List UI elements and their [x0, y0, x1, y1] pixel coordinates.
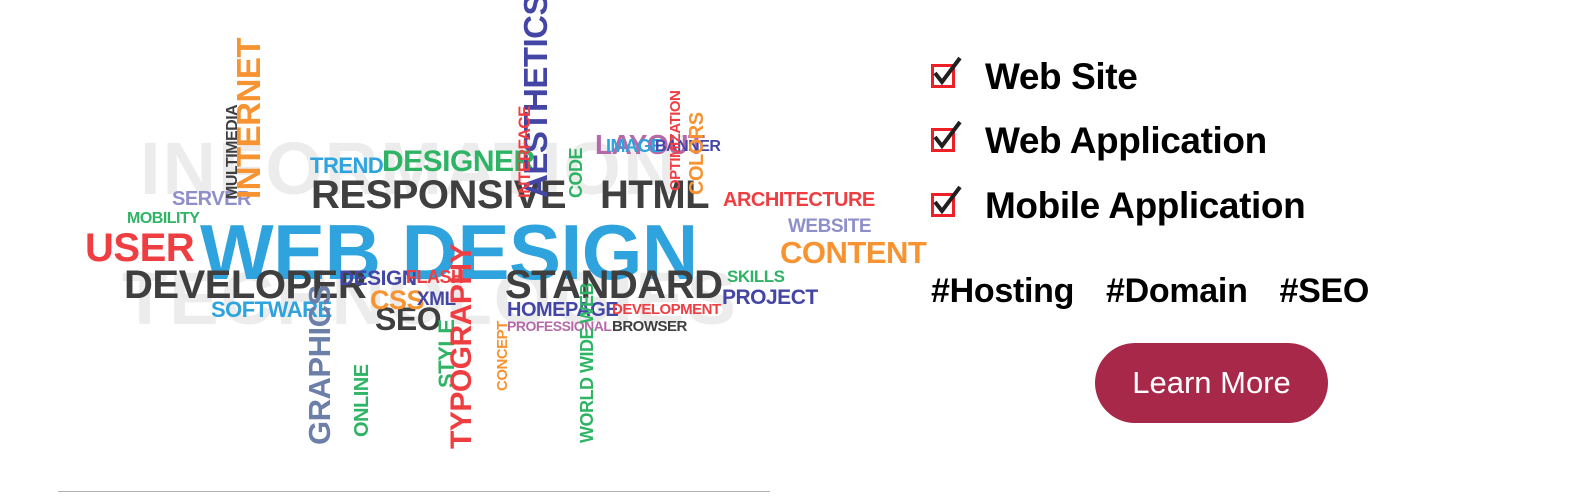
- checkbox-checked-icon[interactable]: [931, 191, 961, 221]
- checkbox-checked-icon[interactable]: [931, 126, 961, 156]
- word-cloud-word: SKILLS: [727, 268, 784, 285]
- checklist-item-label: Mobile Application: [985, 185, 1305, 227]
- word-cloud-word: WEBSITE: [788, 217, 871, 236]
- word-cloud-word: HOMEPAGE: [507, 300, 618, 320]
- hashtag-list: #Hosting #Domain #SEO: [931, 272, 1369, 311]
- word-cloud-word: CODE: [567, 148, 585, 198]
- learn-more-button[interactable]: Learn More: [1095, 343, 1328, 423]
- word-cloud-word: MOBILITY: [127, 211, 199, 227]
- word-cloud-word: CSS: [370, 287, 424, 314]
- promo-banner: INFORMATION TECHNOLOGIES WEB DESIGNRESPO…: [0, 0, 1583, 500]
- word-cloud-word: INTERFACE: [516, 106, 533, 198]
- word-cloud-word: MULTIMEDIA: [225, 105, 241, 199]
- word-cloud-image: INFORMATION TECHNOLOGIES WEB DESIGNRESPO…: [0, 0, 915, 470]
- word-cloud-word: DESIGNER: [382, 147, 535, 177]
- word-cloud-word: CONTENT: [780, 237, 926, 268]
- word-cloud-word: USER: [85, 228, 194, 268]
- word-cloud-word: DEVELOPMENT: [612, 302, 721, 317]
- word-cloud-word: CONCEPT: [495, 321, 510, 391]
- hashtag-hosting[interactable]: #Hosting: [931, 272, 1074, 311]
- offerings-panel: Web Site Web Application Mobile Applicat…: [915, 0, 1583, 500]
- checklist-item-mobile-application[interactable]: Mobile Application: [931, 185, 1305, 227]
- word-cloud-word: WORLD WIDE WEB: [578, 283, 596, 443]
- checklist-item-web-site[interactable]: Web Site: [931, 56, 1137, 98]
- word-cloud-word: TREND: [310, 155, 383, 177]
- word-cloud-word: BROWSER: [612, 319, 687, 334]
- word-cloud-word: GRAPHICS: [304, 285, 335, 445]
- word-cloud-word: TYPOGRAPHY: [447, 244, 477, 449]
- checkbox-checked-icon[interactable]: [931, 62, 961, 92]
- hashtag-domain[interactable]: #Domain: [1106, 272, 1248, 311]
- word-cloud-word: ONLINE: [352, 364, 372, 437]
- word-cloud-word: PROJECT: [722, 287, 818, 308]
- checklist-item-web-application[interactable]: Web Application: [931, 120, 1267, 162]
- bottom-divider: [58, 491, 770, 492]
- checklist-item-label: Web Application: [985, 120, 1267, 162]
- word-cloud-word: OPTIMIZATION: [668, 91, 683, 191]
- checklist-item-label: Web Site: [985, 56, 1137, 98]
- word-cloud-word: ARCHITECTURE: [723, 190, 875, 210]
- hashtag-seo[interactable]: #SEO: [1280, 272, 1370, 311]
- word-cloud-word: COLORS: [687, 112, 707, 195]
